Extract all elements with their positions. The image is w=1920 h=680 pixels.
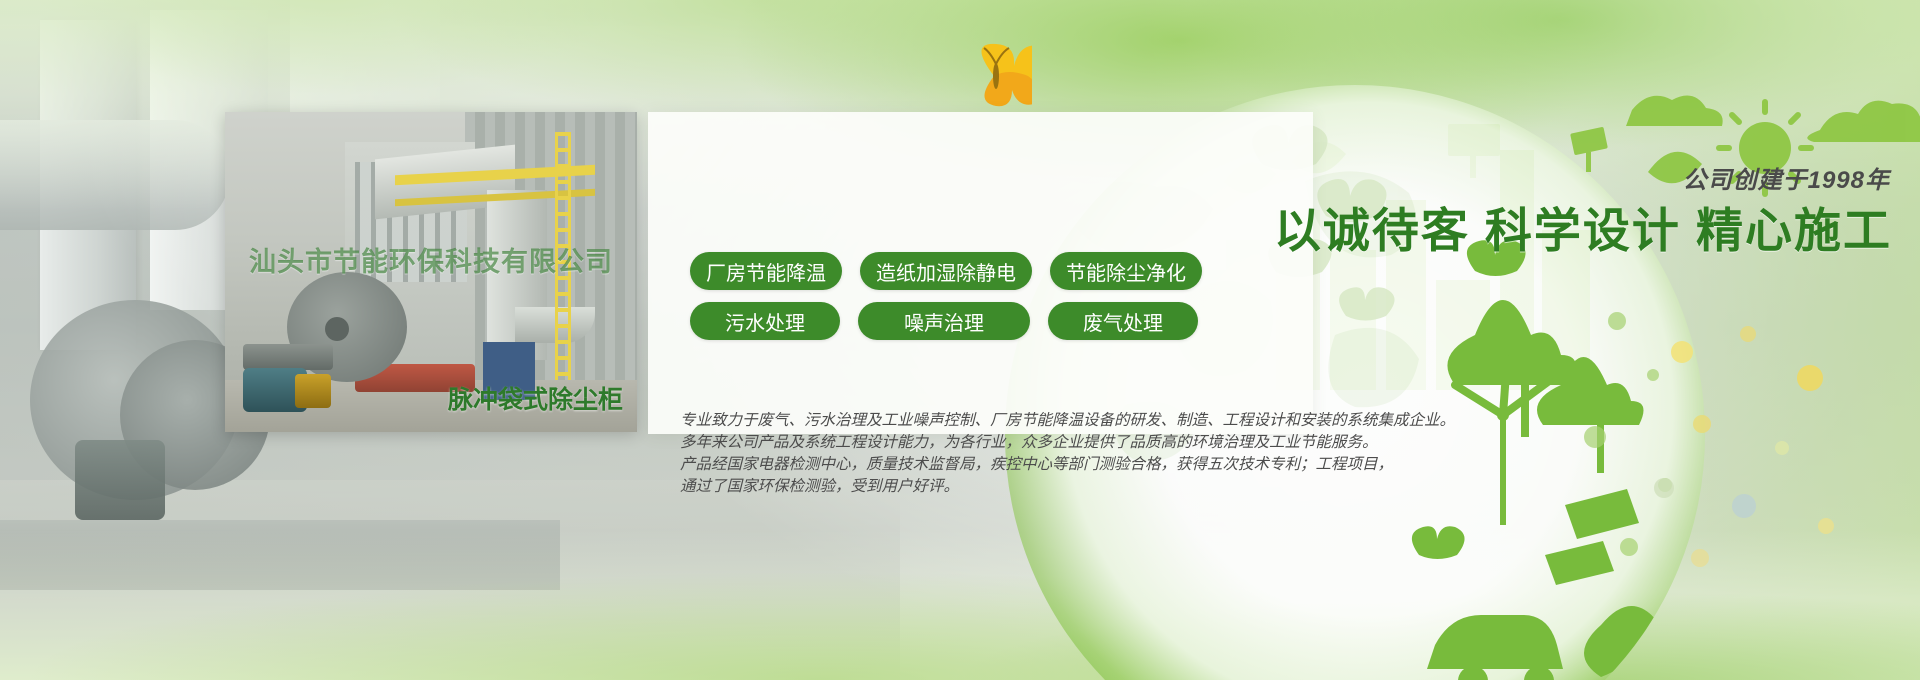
service-pill-row-1: 厂房节能降温 造纸加湿除静电 节能除尘净化 [690, 252, 1310, 290]
service-pill-dust-purification[interactable]: 节能除尘净化 [1050, 252, 1202, 290]
service-pill-grid: 厂房节能降温 造纸加湿除静电 节能除尘净化 污水处理 噪声治理 废气处理 [690, 252, 1310, 352]
description-line-2: 多年来公司产品及系统工程设计能力，为各行业，众多企业提供了品质高的环境治理及工业… [680, 432, 1320, 454]
service-pill-paper-humidify[interactable]: 造纸加湿除静电 [860, 252, 1032, 290]
description-line-4: 通过了国家环保检测验，受到用户好评。 [680, 476, 1320, 498]
promotional-banner: 汕头市节能环保科技有限公司 脉冲袋式除尘柜 公司创建于1998年 以诚待客 科学… [0, 0, 1920, 680]
description-line-1: 专业致力于废气、污水治理及工业噪声控制、厂房节能降温设备的研发、制造、工程设计和… [680, 410, 1320, 432]
description-line-3: 产品经国家电器检测中心，质量技术监督局，疾控中心等部门测验合格，获得五次技术专利… [680, 454, 1320, 476]
product-photo-card: 汕头市节能环保科技有限公司 脉冲袋式除尘柜 [225, 112, 637, 432]
service-pill-sewage-treatment[interactable]: 污水处理 [690, 302, 840, 340]
photo-caption: 脉冲袋式除尘柜 [448, 380, 623, 416]
established-note: 公司创建于1998年 [1683, 160, 1890, 195]
service-pill-noise-control[interactable]: 噪声治理 [858, 302, 1030, 340]
service-pill-factory-cooling[interactable]: 厂房节能降温 [690, 252, 842, 290]
decorative-dots [1640, 320, 1880, 600]
banner-headline: 以诚待客 科学设计 精心施工 [0, 192, 1920, 261]
butterfly-icon-gold [960, 42, 1032, 108]
service-pill-exhaust-treatment[interactable]: 废气处理 [1048, 302, 1198, 340]
service-pill-row-2: 污水处理 噪声治理 废气处理 [690, 302, 1310, 340]
company-description: 专业致力于废气、污水治理及工业噪声控制、厂房节能降温设备的研发、制造、工程设计和… [680, 410, 1320, 498]
